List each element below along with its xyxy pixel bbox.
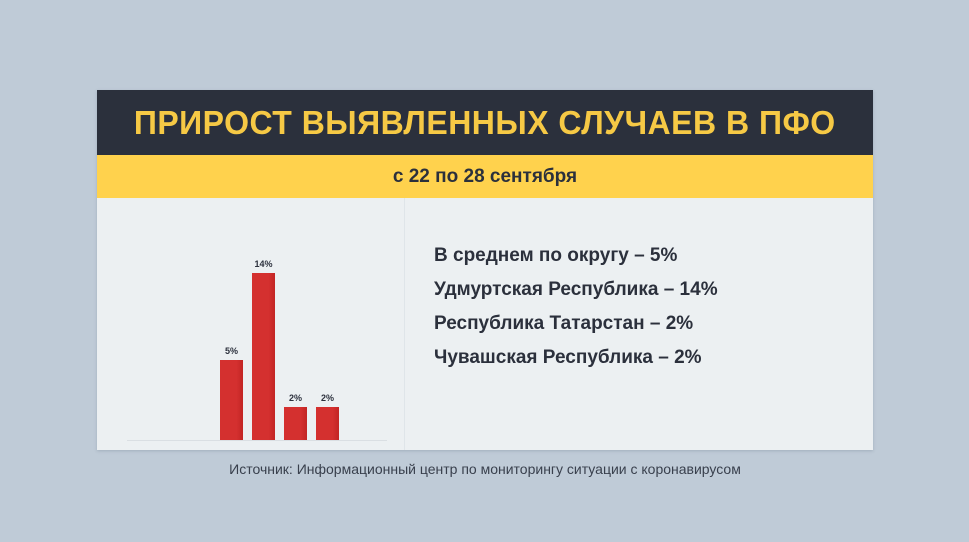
- chart-bar-group: 2%: [316, 250, 339, 440]
- bar-rect: [252, 273, 275, 440]
- chart-bar-group: 14%: [252, 250, 275, 440]
- legend-item: Чувашская Республика – 2%: [434, 348, 854, 367]
- legend-item: Удмуртская Республика – 14%: [434, 280, 854, 299]
- bar-rect: [316, 407, 339, 440]
- bar-value-label: 2%: [321, 394, 334, 403]
- infographic-card: ПРИРОСТ ВЫЯВЛЕННЫХ СЛУЧАЕВ В ПФО с 22 по…: [97, 90, 873, 450]
- legend: В среднем по округу – 5% Удмуртская Респ…: [434, 246, 854, 367]
- chart-bars: 5% 14% 2% 2%: [220, 250, 345, 440]
- date-range-subtitle: с 22 по 28 сентября: [393, 167, 577, 186]
- bar-value-label: 2%: [289, 394, 302, 403]
- legend-item: Республика Татарстан – 2%: [434, 314, 854, 333]
- bar-value-label: 14%: [254, 260, 272, 269]
- chart-bar-group: 5%: [220, 250, 243, 440]
- bar-rect: [220, 360, 243, 440]
- bar-rect: [284, 407, 307, 440]
- subtitle-band: с 22 по 28 сентября: [97, 155, 873, 198]
- source-note: Источник: Информационный центр по монито…: [97, 462, 873, 476]
- panel-divider: [404, 198, 405, 450]
- infographic-root: ПРИРОСТ ВЫЯВЛЕННЫХ СЛУЧАЕВ В ПФО с 22 по…: [0, 0, 969, 542]
- title-bar: ПРИРОСТ ВЫЯВЛЕННЫХ СЛУЧАЕВ В ПФО: [97, 90, 873, 155]
- chart-baseline: [127, 440, 387, 441]
- content-panel: 5% 14% 2% 2%: [97, 198, 873, 450]
- bar-value-label: 5%: [225, 347, 238, 356]
- bar-chart: 5% 14% 2% 2%: [97, 198, 404, 450]
- legend-item: В среднем по округу – 5%: [434, 246, 854, 265]
- footer: Источник: Информационный центр по монито…: [97, 462, 873, 476]
- chart-bar-group: 2%: [284, 250, 307, 440]
- page-title: ПРИРОСТ ВЫЯВЛЕННЫХ СЛУЧАЕВ В ПФО: [134, 106, 836, 139]
